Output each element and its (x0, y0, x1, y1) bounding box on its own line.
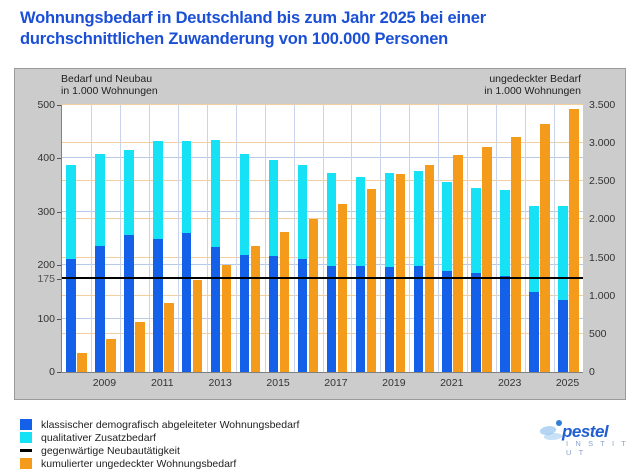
bar-qualitativer-zusatzbedarf-2025 (558, 206, 568, 300)
bar-demografischer-bedarf-2021 (442, 271, 452, 372)
legend-label-1: qualitativer Zusatzbedarf (41, 432, 156, 444)
bar-ungedeckter-bedarf-2018 (367, 189, 377, 372)
bar-demografischer-bedarf-2009 (95, 246, 105, 372)
bar-group-2023 (496, 105, 525, 372)
bar-qualitativer-zusatzbedarf-2012 (182, 141, 192, 233)
bar-ungedeckter-bedarf-2020 (425, 165, 435, 372)
y-tick-right-3.000: 3.000 (589, 138, 635, 148)
x-tick-2021: 2021 (422, 377, 482, 389)
bar-ungedeckter-bedarf-2011 (164, 303, 174, 372)
legend-item-0: klassischer demografisch abgeleiteter Wo… (20, 418, 440, 431)
bar-demografischer-bedarf-2012 (182, 233, 192, 372)
bar-demografischer-bedarf-2015 (269, 256, 279, 372)
bar-qualitativer-zusatzbedarf-2009 (95, 154, 105, 246)
bar-qualitativer-zusatzbedarf-2019 (385, 173, 395, 268)
bar-group-2016 (294, 105, 323, 372)
bar-group-2018 (351, 105, 380, 372)
y-tickmark-left (57, 265, 61, 266)
y-tickmark-left (57, 158, 61, 159)
bar-group-2024 (525, 105, 554, 372)
y-tick-left-400: 400 (15, 153, 55, 163)
bar-group-2011 (149, 105, 178, 372)
bar-demografischer-bedarf-2022 (471, 273, 481, 372)
y-tickmark-left (57, 372, 61, 373)
right-axis-caption: ungedeckter Bedarfin 1.000 Wohnungen (395, 73, 581, 97)
bar-qualitativer-zusatzbedarf-2008 (66, 165, 76, 260)
bar-group-2012 (178, 105, 207, 372)
y-tickmark-left (57, 212, 61, 213)
legend-swatch-3 (20, 458, 32, 469)
y-tickmark-left (57, 319, 61, 320)
bar-group-2013 (207, 105, 236, 372)
bar-demografischer-bedarf-2020 (414, 266, 424, 372)
bar-group-2021 (438, 105, 467, 372)
page-title: Wohnungsbedarf in Deutschland bis zum Ja… (20, 8, 625, 50)
bar-group-2019 (380, 105, 409, 372)
y-tick-right-1.000: 1.000 (589, 291, 635, 301)
y-tick-left-100: 100 (15, 314, 55, 324)
bar-qualitativer-zusatzbedarf-2024 (529, 206, 539, 292)
bar-demografischer-bedarf-2017 (327, 266, 337, 372)
bar-ungedeckter-bedarf-2022 (482, 147, 492, 372)
y-tickmark-left (57, 279, 61, 280)
bar-demografischer-bedarf-2024 (529, 292, 539, 372)
y-tick-right-2.500: 2.500 (589, 176, 635, 186)
x-tick-2015: 2015 (248, 377, 308, 389)
legend-item-1: qualitativer Zusatzbedarf (20, 431, 440, 444)
bar-group-2022 (467, 105, 496, 372)
bar-group-2010 (120, 105, 149, 372)
bar-qualitativer-zusatzbedarf-2010 (124, 150, 134, 235)
bar-demografischer-bedarf-2011 (153, 239, 163, 373)
y-tick-right-1.500: 1.500 (589, 253, 635, 263)
bar-qualitativer-zusatzbedarf-2022 (471, 188, 481, 273)
bar-group-2008 (62, 105, 91, 372)
logo-subtitle: I N S T I T U T (566, 439, 632, 457)
bar-ungedeckter-bedarf-2014 (251, 246, 261, 372)
y-tick-left-175: 175 (15, 274, 55, 284)
x-tick-2019: 2019 (364, 377, 424, 389)
y-tick-right-2.000: 2.000 (589, 214, 635, 224)
bar-ungedeckter-bedarf-2015 (280, 232, 290, 372)
y-tick-left-300: 300 (15, 207, 55, 217)
y-tick-left-500: 500 (15, 100, 55, 110)
logo-swoosh-2 (543, 433, 564, 440)
legend-item-2: gegenwärtige Neubautätigkeit (20, 444, 440, 457)
bar-ungedeckter-bedarf-2017 (338, 204, 348, 372)
bar-demografischer-bedarf-2019 (385, 267, 395, 372)
bar-group-2009 (91, 105, 120, 372)
bar-qualitativer-zusatzbedarf-2017 (327, 173, 337, 265)
bar-ungedeckter-bedarf-2012 (193, 280, 203, 372)
plot-area (61, 105, 583, 373)
bar-ungedeckter-bedarf-2019 (396, 174, 406, 372)
bar-ungedeckter-bedarf-2025 (569, 109, 579, 372)
y-tick-left-200: 200 (15, 260, 55, 270)
bar-group-2015 (265, 105, 294, 372)
bar-group-2020 (409, 105, 438, 372)
x-tick-2013: 2013 (190, 377, 250, 389)
bar-demografischer-bedarf-2014 (240, 255, 250, 372)
bar-qualitativer-zusatzbedarf-2015 (269, 160, 279, 256)
bar-ungedeckter-bedarf-2010 (135, 322, 145, 372)
bar-ungedeckter-bedarf-2024 (540, 124, 550, 372)
bar-qualitativer-zusatzbedarf-2018 (356, 177, 366, 266)
bar-qualitativer-zusatzbedarf-2020 (414, 171, 424, 267)
bar-qualitativer-zusatzbedarf-2011 (153, 141, 163, 238)
bar-demografischer-bedarf-2023 (500, 276, 510, 372)
x-tick-2023: 2023 (480, 377, 540, 389)
x-tick-2009: 2009 (74, 377, 134, 389)
left-axis-caption: Bedarf und Neubauin 1.000 Wohnungen (61, 73, 158, 97)
legend-label-3: kumulierter ungedeckter Wohnungsbedarf (41, 458, 236, 470)
bar-ungedeckter-bedarf-2009 (106, 339, 116, 372)
legend-swatch-1 (20, 432, 32, 443)
chart-frame: Bedarf und Neubauin 1.000 Wohnungen unge… (14, 68, 626, 400)
bar-qualitativer-zusatzbedarf-2023 (500, 190, 510, 276)
bar-qualitativer-zusatzbedarf-2016 (298, 165, 308, 260)
y-tick-right-0: 0 (589, 367, 635, 377)
pestel-institut-logo: pestel I N S T I T U T (540, 420, 632, 454)
y-tickmark-left (57, 105, 61, 106)
bar-ungedeckter-bedarf-2021 (453, 155, 463, 372)
legend: klassischer demografisch abgeleiteter Wo… (20, 418, 440, 470)
bar-demografischer-bedarf-2018 (356, 266, 366, 372)
x-tick-2025: 2025 (538, 377, 598, 389)
y-tick-right-500: 500 (589, 329, 635, 339)
legend-label-0: klassischer demografisch abgeleiteter Wo… (41, 419, 299, 431)
bar-ungedeckter-bedarf-2016 (309, 219, 319, 372)
legend-swatch-0 (20, 419, 32, 430)
bar-demografischer-bedarf-2025 (558, 300, 568, 372)
legend-label-2: gegenwärtige Neubautätigkeit (41, 445, 180, 457)
bar-ungedeckter-bedarf-2008 (77, 353, 87, 372)
bar-ungedeckter-bedarf-2023 (511, 137, 521, 372)
y-tick-left-0: 0 (15, 367, 55, 377)
legend-swatch-2 (20, 449, 32, 452)
bar-group-2025 (554, 105, 583, 372)
bar-group-2014 (236, 105, 265, 372)
legend-item-3: kumulierter ungedeckter Wohnungsbedarf (20, 457, 440, 470)
bar-qualitativer-zusatzbedarf-2013 (211, 140, 221, 247)
y-tick-right-3.500: 3.500 (589, 100, 635, 110)
bar-group-2017 (323, 105, 352, 372)
x-tick-2017: 2017 (306, 377, 366, 389)
reference-line-neubautaetigkeit (62, 277, 583, 279)
bar-ungedeckter-bedarf-2013 (222, 265, 232, 372)
bar-qualitativer-zusatzbedarf-2014 (240, 154, 250, 254)
bar-demografischer-bedarf-2013 (211, 247, 221, 372)
bar-demografischer-bedarf-2010 (124, 235, 134, 372)
bar-qualitativer-zusatzbedarf-2021 (442, 182, 452, 270)
x-tick-2011: 2011 (132, 377, 192, 389)
